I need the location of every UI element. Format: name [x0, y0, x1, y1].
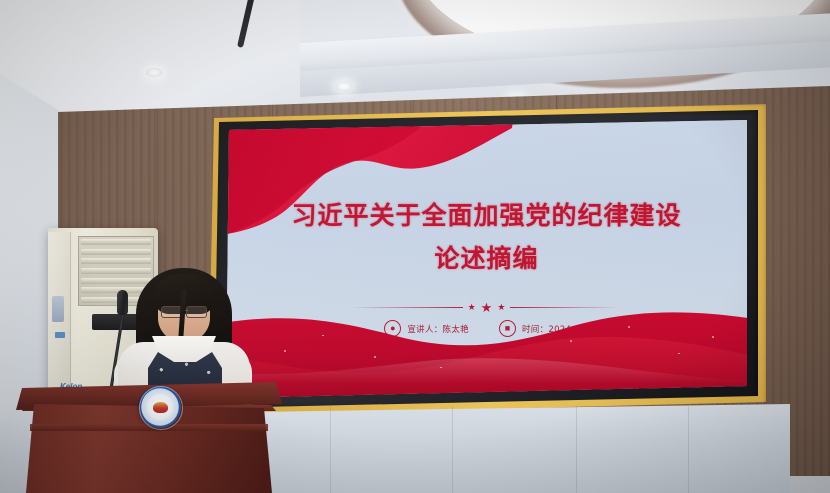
star-icon: ★ [481, 301, 493, 314]
downlight-icon [336, 82, 352, 91]
air-conditioner-control-panel[interactable] [52, 296, 64, 322]
divider-line-right [510, 307, 622, 308]
led-display-screen[interactable]: 习近平关于全面加强党的纪律建设 论述摘编 ★ ★ ★ ● 宣讲人：陈太艳 ■ 时… [226, 120, 747, 398]
presentation-slide: 习近平关于全面加强党的纪律建设 论述摘编 ★ ★ ★ ● 宣讲人：陈太艳 ■ 时… [226, 120, 747, 398]
podium-emblem [139, 386, 181, 428]
star-divider: ★ ★ ★ [226, 301, 747, 314]
star-icon: ★ [468, 303, 476, 312]
presenter-meta: ● 宣讲人：陈太艳 [384, 320, 469, 337]
star-icon: ★ [497, 303, 505, 312]
slide-title-line-1: 习近平关于全面加强党的纪律建设 [226, 196, 747, 232]
slide-title-line-2: 论述摘编 [226, 239, 747, 275]
presenter-text: 宣讲人：陈太艳 [407, 323, 469, 335]
divider-line-left [351, 307, 463, 308]
calendar-icon: ■ [499, 320, 516, 337]
presentation-photo-scene: 习近平关于全面加强党的纪律建设 论述摘编 ★ ★ ★ ● 宣讲人：陈太艳 ■ 时… [0, 0, 830, 493]
air-conditioner-badge [55, 332, 65, 338]
emblem-ring [139, 386, 183, 430]
downlight-icon [146, 68, 162, 77]
